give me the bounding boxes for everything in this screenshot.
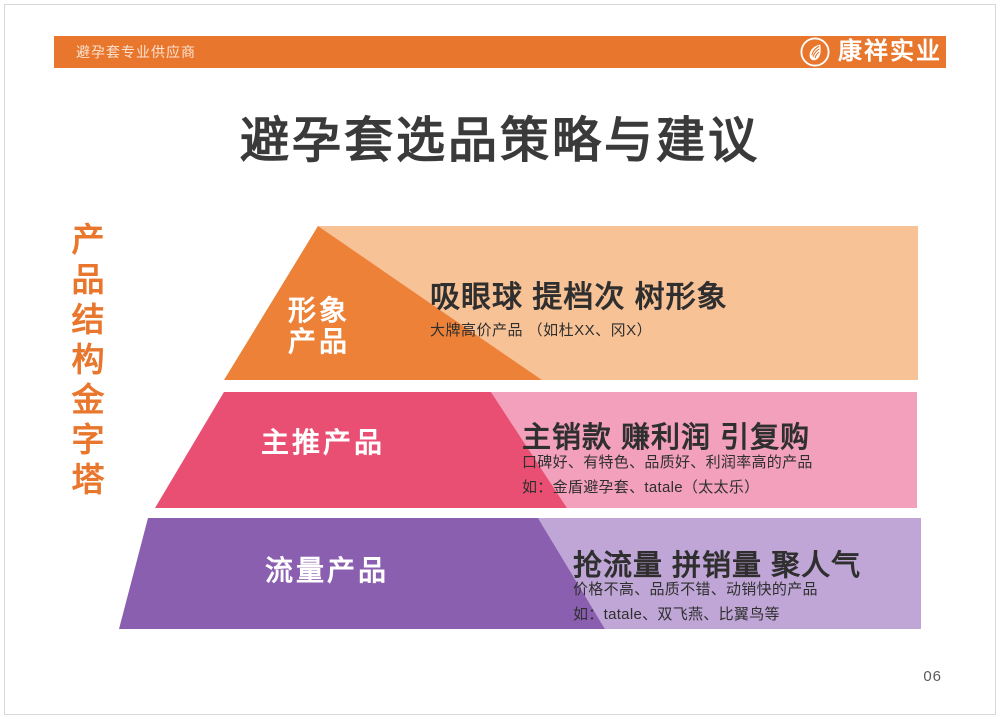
pyramid-diagram [0, 0, 1000, 719]
tier-3-subtext-1: 价格不高、品质不错、动销快的产品 [573, 578, 818, 599]
tier-2-heading: 主销款 赚利润 引复购 [522, 414, 810, 456]
tier-3-label: 流量产品 [242, 555, 412, 586]
tier-1-label: 形象 产品 [255, 295, 383, 358]
tier-3-subtext-2: 如：tatale、双飞燕、比翼鸟等 [573, 603, 780, 624]
tier-1-subtext-1: 大牌高价产品 （如杜XX、冈X） [430, 319, 652, 340]
tier-1-heading: 吸眼球 提档次 树形象 [430, 272, 728, 316]
tier-2-subtext-2: 如：金盾避孕套、tatale（太太乐） [522, 476, 759, 497]
tier-2-subtext-1: 口碑好、有特色、品质好、利润率高的产品 [522, 451, 813, 472]
tier-2-label: 主推产品 [238, 427, 408, 458]
slide-canvas: 避孕套专业供应商 康祥实业 避孕套选品策略与建议 产品结构金字塔 形象 产品 吸… [0, 0, 1000, 719]
page-number: 06 [923, 668, 942, 685]
